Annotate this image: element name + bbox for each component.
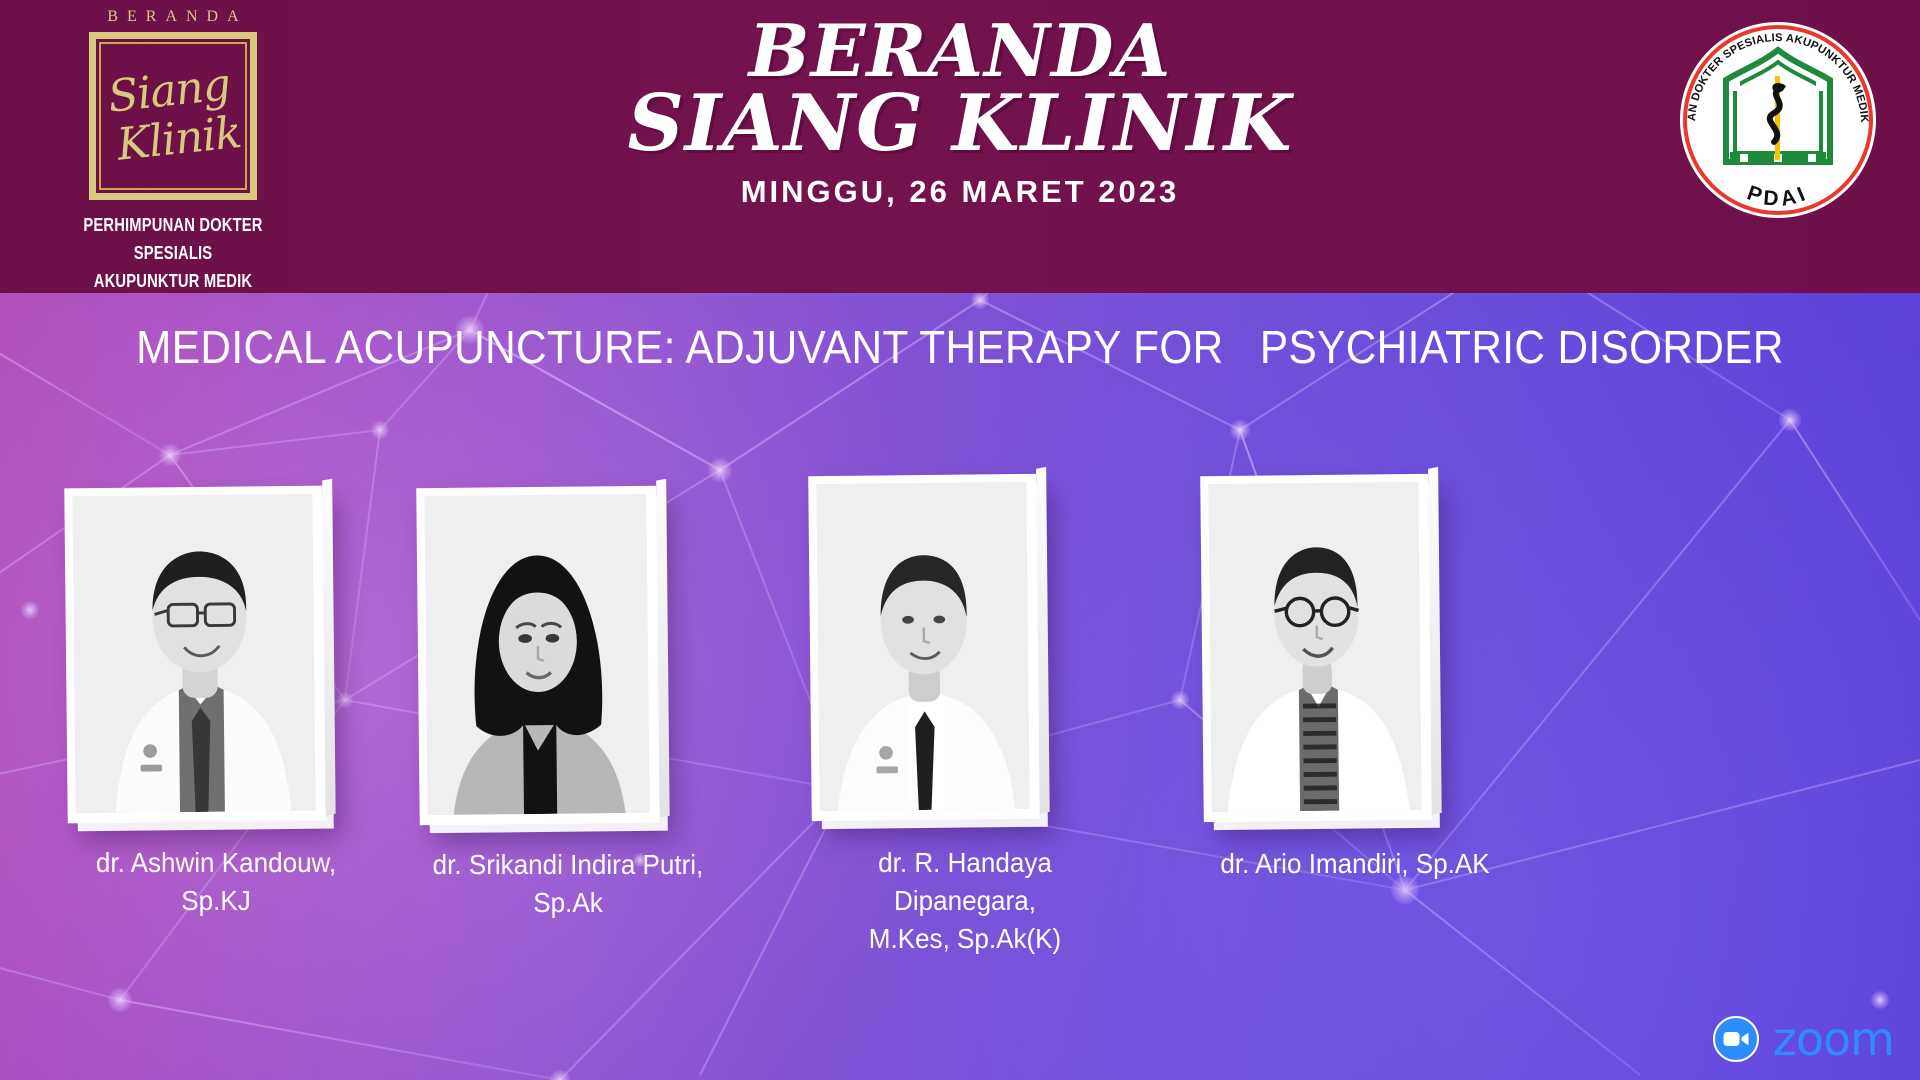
portrait-photo-4 (1208, 482, 1421, 812)
zoom-camera-icon (1713, 1016, 1759, 1062)
speaker-card-2: dr. Srikandi Indira Putri, Sp.Ak (418, 487, 718, 922)
page-title: MEDICAL ACUPUNCTURE: ADJUVANT THERAPY FO… (77, 320, 1843, 374)
portrait-photo-2 (424, 494, 649, 815)
speaker-card-3: dr. R. Handaya Dipanegara, M.Kes, Sp.Ak(… (800, 475, 1130, 957)
speaker-card-4: dr. Ario Imandiri, Sp.AK (1190, 475, 1520, 883)
header-band: BERANDA Siang Klinik PERHIMPUNAN DOKTER … (0, 0, 1920, 293)
brand-gold-frame: Siang Klinik (89, 32, 257, 200)
brand-script-klinik: Klinik (115, 111, 243, 168)
speaker-name-3: dr. R. Handaya Dipanegara, M.Kes, Sp.Ak(… (812, 844, 1119, 957)
speaker-name-2: dr. Srikandi Indira Putri, Sp.Ak (429, 846, 708, 922)
brand-lockup: BERANDA Siang Klinik PERHIMPUNAN DOKTER … (28, 8, 318, 293)
portrait-photo-1 (72, 494, 315, 813)
brand-subtitle-line2: AKUPUNKTUR MEDIK INDONESIA (54, 268, 292, 293)
photo-frame-1 (64, 486, 325, 824)
speakers-row: dr. Ashwin Kandouw, Sp.KJ (0, 455, 1920, 975)
poster-canvas: BERANDA Siang Klinik PERHIMPUNAN DOKTER … (0, 0, 1920, 1080)
brand-word-beranda: BERANDA (37, 8, 318, 26)
photo-frame-3 (808, 474, 1040, 821)
zoom-wordmark: zoom (1773, 1016, 1894, 1062)
brand-subtitle-line1: PERHIMPUNAN DOKTER SPESIALIS (54, 212, 292, 268)
event-date: MINGGU, 26 MARET 2023 (420, 174, 1500, 210)
zoom-logo: zoom (1713, 1016, 1894, 1062)
brand-script-logo: Siang Klinik (96, 39, 250, 193)
speaker-name-4: dr. Ario Imandiri, Sp.AK (1202, 845, 1509, 883)
event-title-block: BERANDA SIANG KLINIK MINGGU, 26 MARET 20… (420, 16, 1500, 210)
event-title-line1: BERANDA (420, 16, 1500, 85)
photo-frame-4 (1200, 474, 1432, 822)
brand-subtitle: PERHIMPUNAN DOKTER SPESIALIS AKUPUNKTUR … (54, 212, 292, 293)
pdai-logo: PERHIMPUNAN DOKTER SPESIALIS AKUPUNKTUR … (1678, 20, 1878, 220)
speaker-card-1: dr. Ashwin Kandouw, Sp.KJ (66, 487, 366, 920)
event-title-line2: SIANG KLINIK (420, 87, 1500, 162)
photo-frame-2 (416, 486, 660, 825)
portrait-photo-3 (816, 482, 1029, 811)
speaker-name-1: dr. Ashwin Kandouw, Sp.KJ (77, 844, 356, 920)
